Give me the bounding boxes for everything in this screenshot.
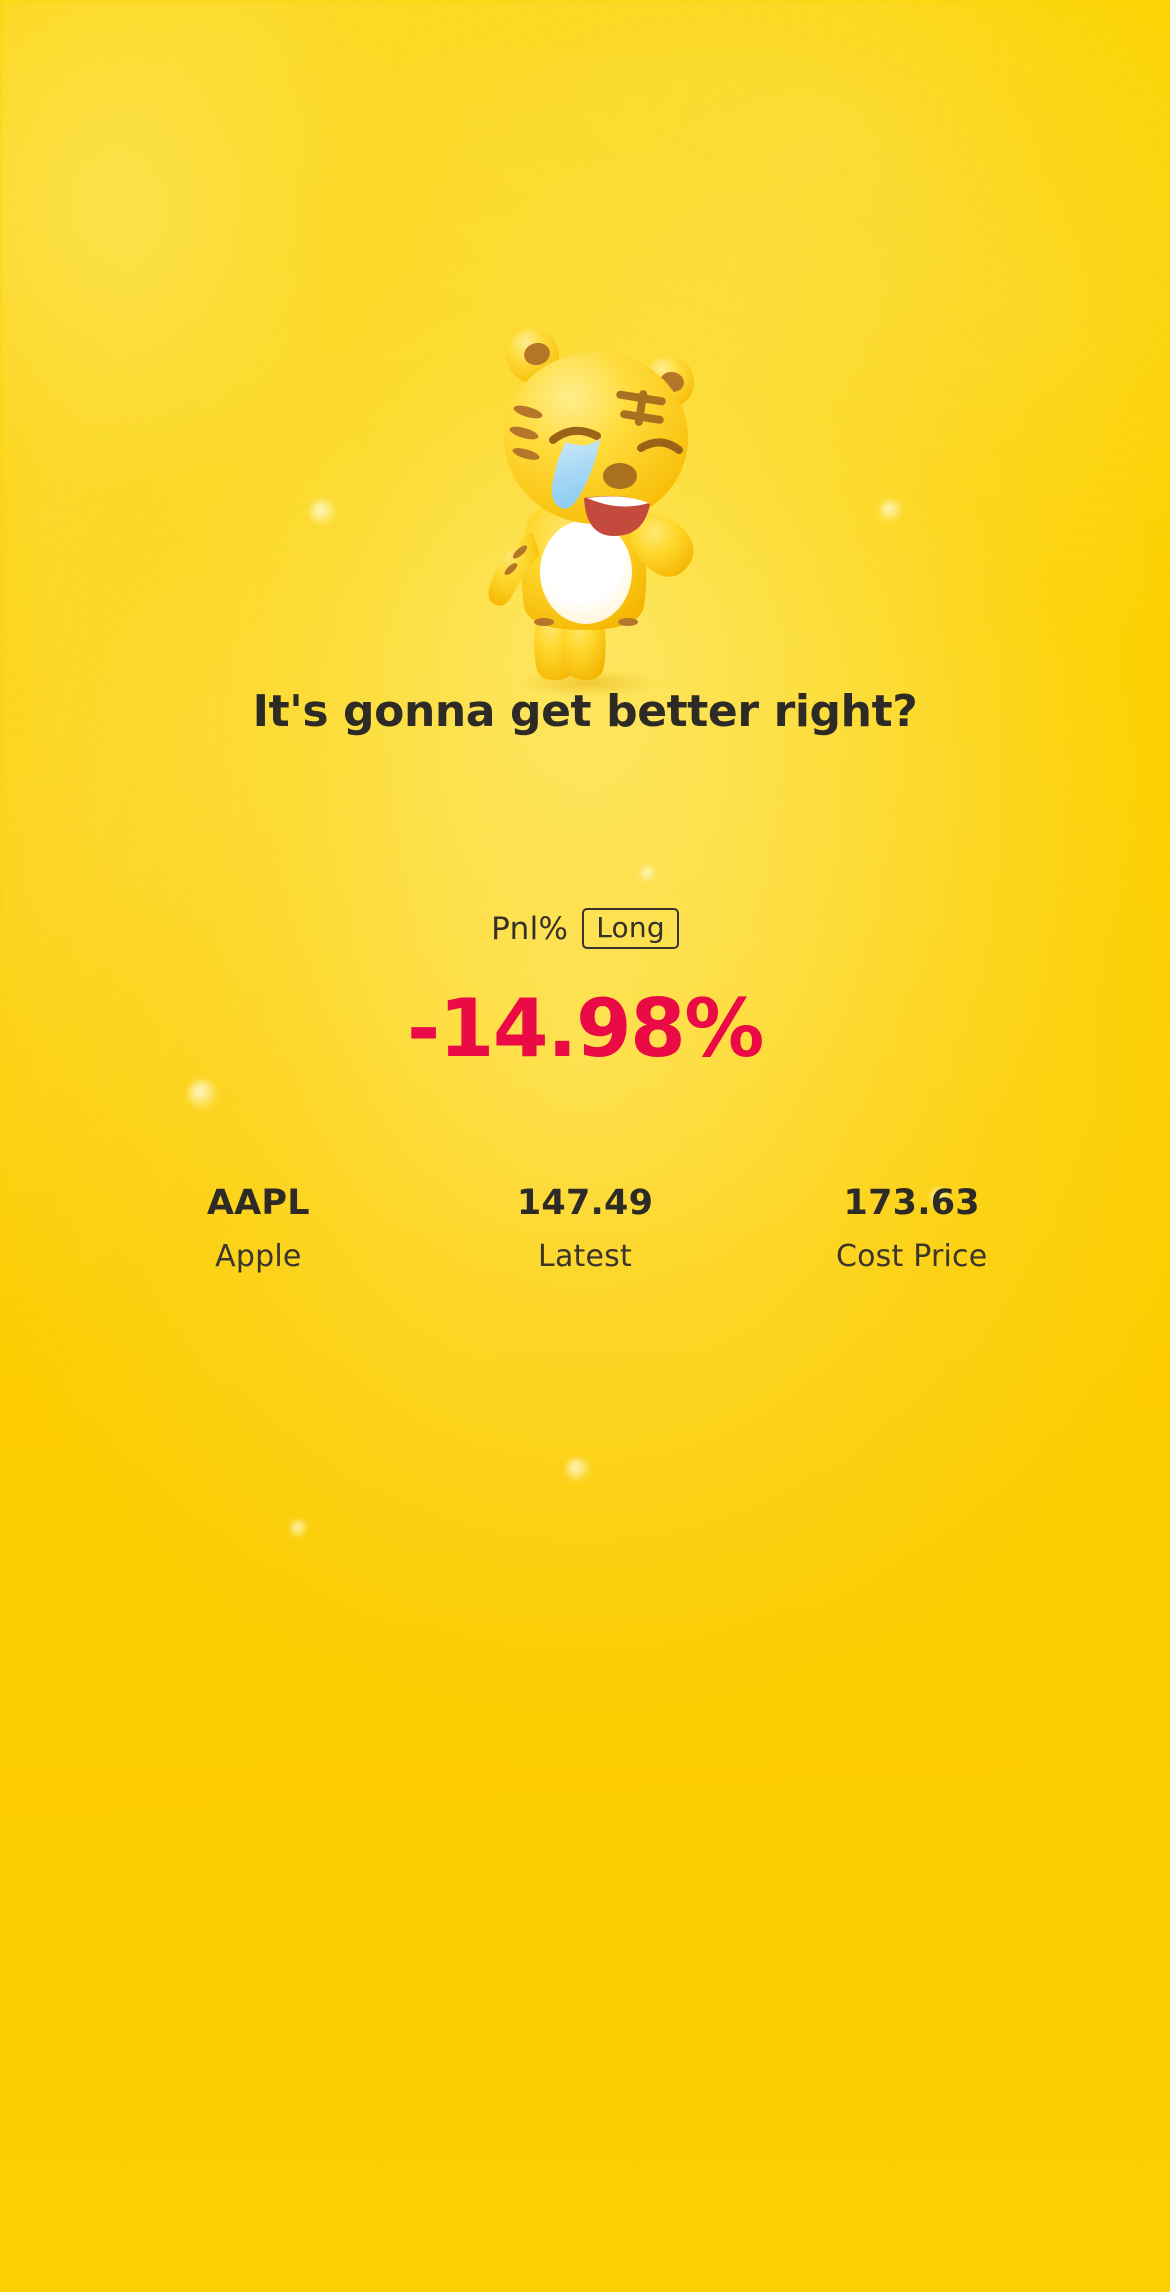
pnl-label: Pnl% bbox=[491, 911, 568, 947]
pnl-header-row: Pnl% Long bbox=[0, 908, 1170, 949]
page-title: It's gonna get better right? bbox=[0, 686, 1170, 737]
stat-latest-price: 147.49 Latest bbox=[422, 1182, 749, 1275]
mascot-leg-stripe bbox=[534, 618, 554, 626]
stats-row: AAPL Apple 147.49 Latest 173.63 Cost Pri… bbox=[95, 1182, 1075, 1275]
pnl-percentage-value: -14.98% bbox=[0, 985, 1170, 1073]
stat-symbol: AAPL Apple bbox=[95, 1182, 422, 1275]
position-direction-badge: Long bbox=[582, 908, 679, 949]
stat-label: Latest bbox=[422, 1238, 749, 1276]
stat-value: AAPL bbox=[95, 1182, 422, 1226]
bokeh-particle bbox=[290, 1520, 308, 1538]
bokeh-particle bbox=[310, 500, 336, 526]
bokeh-particle bbox=[188, 1080, 218, 1110]
bokeh-particle bbox=[880, 500, 902, 522]
background-bottom-fade bbox=[0, 1532, 1170, 2292]
crying-tiger-cub-icon bbox=[420, 300, 750, 700]
stat-cost-price: 173.63 Cost Price bbox=[748, 1182, 1075, 1275]
bokeh-particle bbox=[640, 866, 656, 882]
mascot-leg-stripe bbox=[618, 618, 638, 626]
mascot-nose bbox=[603, 463, 637, 489]
stat-label: Apple bbox=[95, 1238, 422, 1276]
stat-value: 173.63 bbox=[748, 1182, 1075, 1226]
bokeh-particle bbox=[566, 1458, 590, 1482]
stat-label: Cost Price bbox=[748, 1238, 1075, 1276]
stat-value: 147.49 bbox=[422, 1182, 749, 1226]
